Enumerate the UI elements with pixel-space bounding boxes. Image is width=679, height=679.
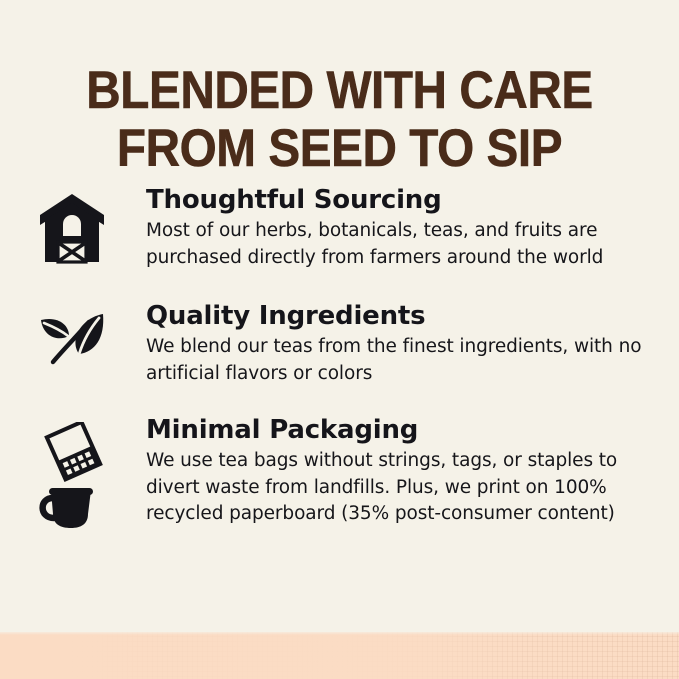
page-title: BLENDED WITH CARE FROM SEED TO SIP bbox=[0, 62, 679, 178]
page-title-line-2: FROM SEED TO SIP bbox=[34, 120, 645, 178]
feature-title: Minimal Packaging bbox=[146, 414, 643, 446]
bottom-fabric-band bbox=[0, 632, 679, 679]
feature-item-quality-ingredients: Quality Ingredients We blend our teas fr… bbox=[0, 302, 679, 388]
teabag-mug-icon bbox=[36, 416, 108, 502]
fabric-texture-fade bbox=[0, 632, 679, 679]
feature-item-thoughtful-sourcing: Thoughtful Sourcing Most of our herbs, b… bbox=[0, 186, 679, 272]
feature-text-quality-ingredients: Quality Ingredients We blend our teas fr… bbox=[108, 300, 679, 387]
feature-text-minimal-packaging: Minimal Packaging We use tea bags withou… bbox=[108, 414, 679, 528]
feature-item-minimal-packaging: Minimal Packaging We use tea bags withou… bbox=[0, 416, 679, 528]
page-title-line-1: BLENDED WITH CARE bbox=[34, 62, 645, 120]
feature-body: We blend our teas from the finest ingred… bbox=[146, 334, 643, 387]
feature-title: Quality Ingredients bbox=[146, 300, 643, 332]
feature-list: Thoughtful Sourcing Most of our herbs, b… bbox=[0, 186, 679, 528]
leaves-icon bbox=[36, 302, 108, 388]
infographic-page: BLENDED WITH CARE FROM SEED TO SIP bbox=[0, 0, 679, 679]
feature-body: We use tea bags without strings, tags, o… bbox=[146, 448, 643, 528]
band-top-edge bbox=[0, 632, 679, 635]
feature-body: Most of our herbs, botanicals, teas, and… bbox=[146, 218, 643, 271]
feature-text-thoughtful-sourcing: Thoughtful Sourcing Most of our herbs, b… bbox=[108, 184, 679, 271]
barn-icon bbox=[36, 186, 108, 272]
feature-title: Thoughtful Sourcing bbox=[146, 184, 643, 216]
